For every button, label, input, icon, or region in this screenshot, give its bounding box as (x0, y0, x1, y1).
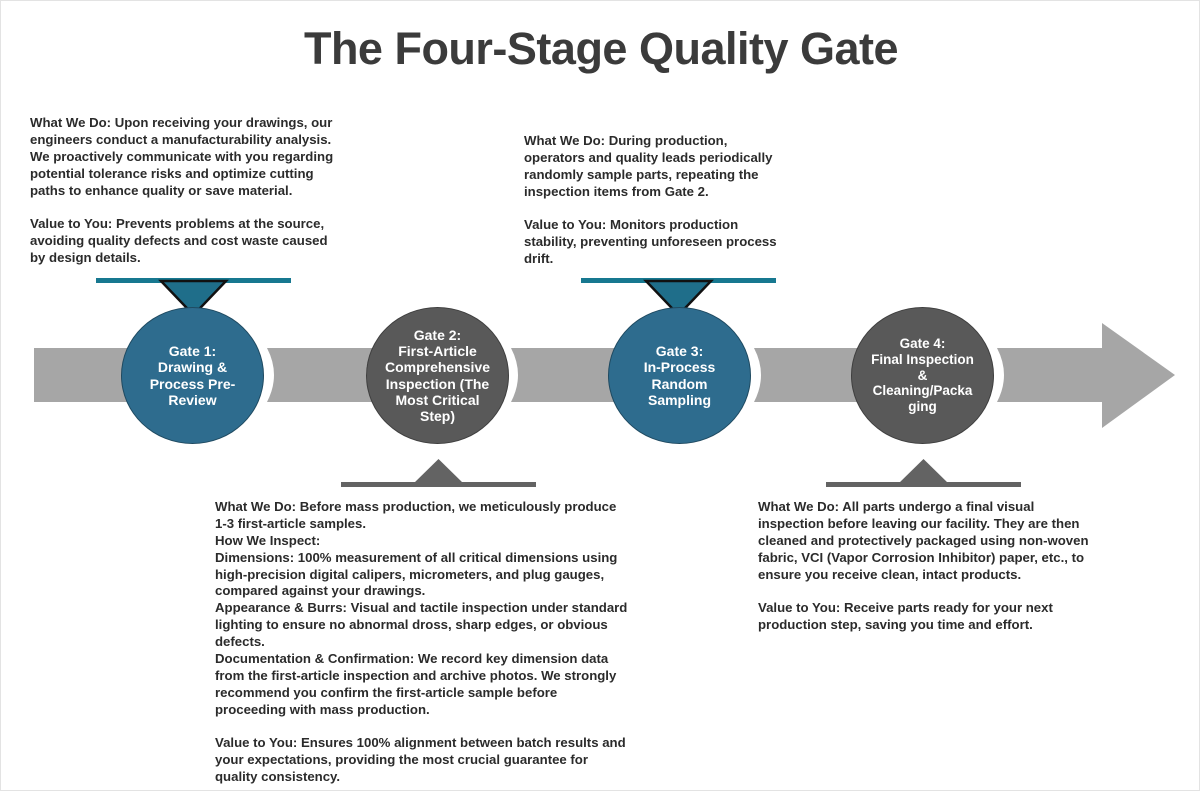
page-title: The Four-Stage Quality Gate (1, 23, 1200, 75)
gate-2-label: Gate 2: First-Article Comprehensive Insp… (385, 327, 490, 424)
gate-3-label: Gate 3: In-Process Random Sampling (644, 343, 716, 408)
gate-4-description: What We Do: All parts undergo a final vi… (758, 499, 1140, 634)
gate-2-description: What We Do: Before mass production, we m… (215, 499, 687, 786)
connector-bar (826, 482, 1021, 487)
gate-4-node[interactable]: Gate 4: Final Inspection & Cleaning/Pack… (851, 307, 994, 444)
band-segment-1 (267, 348, 373, 402)
gate-2-node[interactable]: Gate 2: First-Article Comprehensive Insp… (366, 307, 509, 444)
connector-triangle-up-icon (413, 459, 464, 484)
band-segment-start (34, 348, 129, 402)
connector-triangle-up-icon (898, 459, 949, 484)
gate-1-label: Gate 1: Drawing & Process Pre- Review (150, 343, 236, 408)
gate-1-node[interactable]: Gate 1: Drawing & Process Pre- Review (121, 307, 264, 444)
band-arrowhead (997, 323, 1175, 428)
connector-bar (341, 482, 536, 487)
band-segment-3 (754, 348, 859, 402)
gate-4-label: Gate 4: Final Inspection & Cleaning/Pack… (871, 336, 974, 414)
band-segment-2 (511, 348, 616, 402)
gate-3-node[interactable]: Gate 3: In-Process Random Sampling (608, 307, 751, 444)
diagram-canvas: The Four-Stage Quality Gate Gate 1: Draw… (0, 0, 1200, 791)
gate-3-description: What We Do: During production, operators… (524, 133, 819, 268)
gate-1-description: What We Do: Upon receiving your drawings… (30, 115, 382, 267)
connector-gate-2 (341, 456, 536, 496)
connector-gate-4 (826, 456, 1021, 496)
